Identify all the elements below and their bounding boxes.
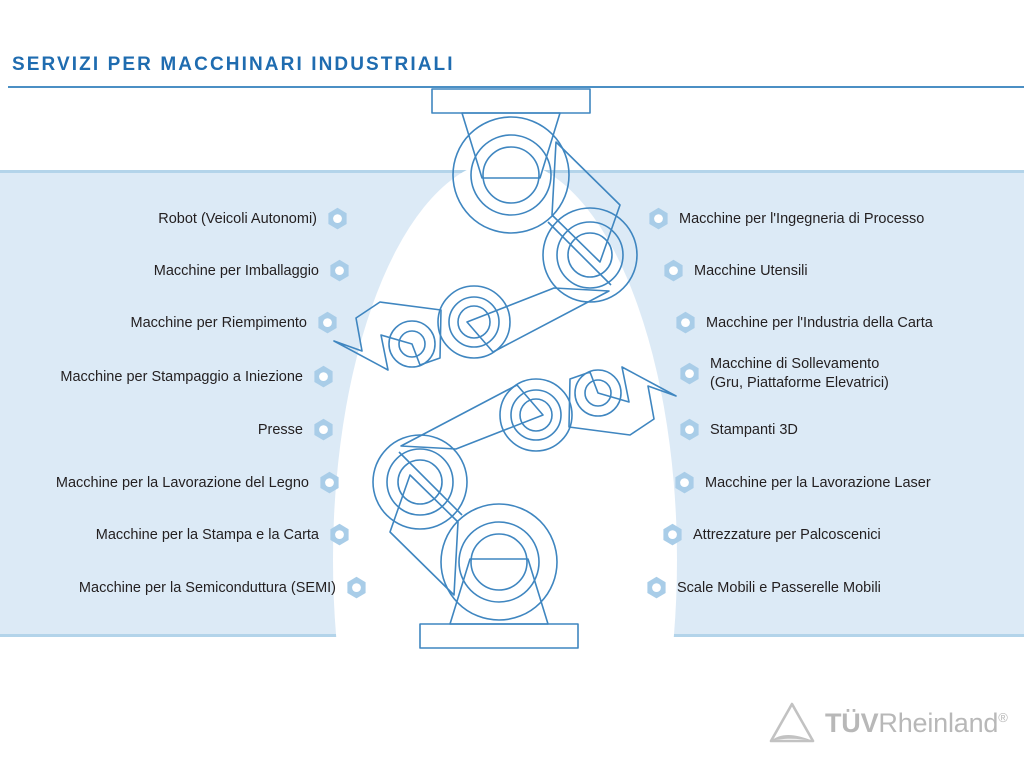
service-label: Macchine di Sollevamento (Gru, Piattafor… bbox=[710, 355, 889, 393]
hexagon-bullet-icon bbox=[648, 207, 669, 231]
hexagon-bullet-icon bbox=[329, 259, 350, 283]
hexagon-bullet-icon bbox=[313, 418, 334, 442]
service-label: Macchine per la Semiconduttura (SEMI) bbox=[79, 579, 336, 598]
list-item[interactable]: Macchine per Stampaggio a Iniezione bbox=[60, 365, 334, 389]
list-item[interactable]: Macchine per Imballaggio bbox=[154, 259, 350, 283]
hexagon-bullet-icon bbox=[327, 207, 348, 231]
slide-canvas: SERVIZI PER MACCHINARI INDUSTRIALI bbox=[0, 0, 1024, 768]
list-item[interactable]: Attrezzature per Palcoscenici bbox=[662, 523, 881, 547]
list-item[interactable]: Macchine per la Lavorazione Laser bbox=[674, 471, 931, 495]
service-label: Robot (Veicoli Autonomi) bbox=[158, 210, 317, 229]
list-item[interactable]: Macchine per Riempimento bbox=[131, 311, 339, 335]
service-label: Macchine Utensili bbox=[694, 262, 808, 281]
list-item[interactable]: Presse bbox=[258, 418, 334, 442]
list-item[interactable]: Macchine di Sollevamento (Gru, Piattafor… bbox=[679, 355, 889, 393]
list-item[interactable]: Stampanti 3D bbox=[679, 418, 798, 442]
logo-tuv-text: TÜV bbox=[825, 708, 878, 738]
hexagon-bullet-icon bbox=[317, 311, 338, 335]
service-label: Macchine per la Stampa e la Carta bbox=[96, 526, 319, 545]
hexagon-bullet-icon bbox=[679, 418, 700, 442]
list-item[interactable]: Scale Mobili e Passerelle Mobili bbox=[646, 576, 881, 600]
service-label: Scale Mobili e Passerelle Mobili bbox=[677, 579, 881, 598]
service-label: Macchine per l'Ingegneria di Processo bbox=[679, 210, 924, 229]
list-item[interactable]: Macchine per la Lavorazione del Legno bbox=[56, 471, 340, 495]
hexagon-bullet-icon bbox=[646, 576, 667, 600]
list-item[interactable]: Robot (Veicoli Autonomi) bbox=[158, 207, 348, 231]
registered-trademark-icon: ® bbox=[998, 710, 1007, 725]
hexagon-bullet-icon bbox=[674, 471, 695, 495]
hexagon-bullet-icon bbox=[679, 362, 700, 386]
tuv-rheinland-logo: TÜVRheinland® bbox=[768, 700, 1008, 746]
service-label: Macchine per l'Industria della Carta bbox=[706, 314, 933, 333]
tuv-triangle-icon bbox=[768, 700, 816, 746]
service-label: Stampanti 3D bbox=[710, 421, 798, 440]
list-item[interactable]: Macchine Utensili bbox=[663, 259, 808, 283]
service-label: Macchine per Stampaggio a Iniezione bbox=[60, 368, 303, 387]
list-item[interactable]: Macchine per l'Ingegneria di Processo bbox=[648, 207, 924, 231]
service-label: Macchine per la Lavorazione Laser bbox=[705, 474, 931, 493]
service-label: Attrezzature per Palcoscenici bbox=[693, 526, 881, 545]
list-item[interactable]: Macchine per l'Industria della Carta bbox=[675, 311, 933, 335]
hexagon-bullet-icon bbox=[319, 471, 340, 495]
robot-arm-lower bbox=[373, 367, 676, 648]
service-label: Presse bbox=[258, 421, 303, 440]
hexagon-bullet-icon bbox=[675, 311, 696, 335]
hexagon-bullet-icon bbox=[346, 576, 367, 600]
list-item[interactable]: Macchine per la Stampa e la Carta bbox=[96, 523, 350, 547]
service-label: Macchine per la Lavorazione del Legno bbox=[56, 474, 309, 493]
hexagon-bullet-icon bbox=[662, 523, 683, 547]
hexagon-bullet-icon bbox=[663, 259, 684, 283]
hexagon-bullet-icon bbox=[313, 365, 334, 389]
hexagon-bullet-icon bbox=[329, 523, 350, 547]
robot-arm-upper bbox=[334, 89, 637, 370]
list-item[interactable]: Macchine per la Semiconduttura (SEMI) bbox=[79, 576, 367, 600]
logo-wordmark: TÜVRheinland® bbox=[825, 708, 1008, 739]
service-label: Macchine per Imballaggio bbox=[154, 262, 319, 281]
service-label: Macchine per Riempimento bbox=[131, 314, 308, 333]
logo-rheinland-text: Rheinland bbox=[878, 708, 998, 738]
